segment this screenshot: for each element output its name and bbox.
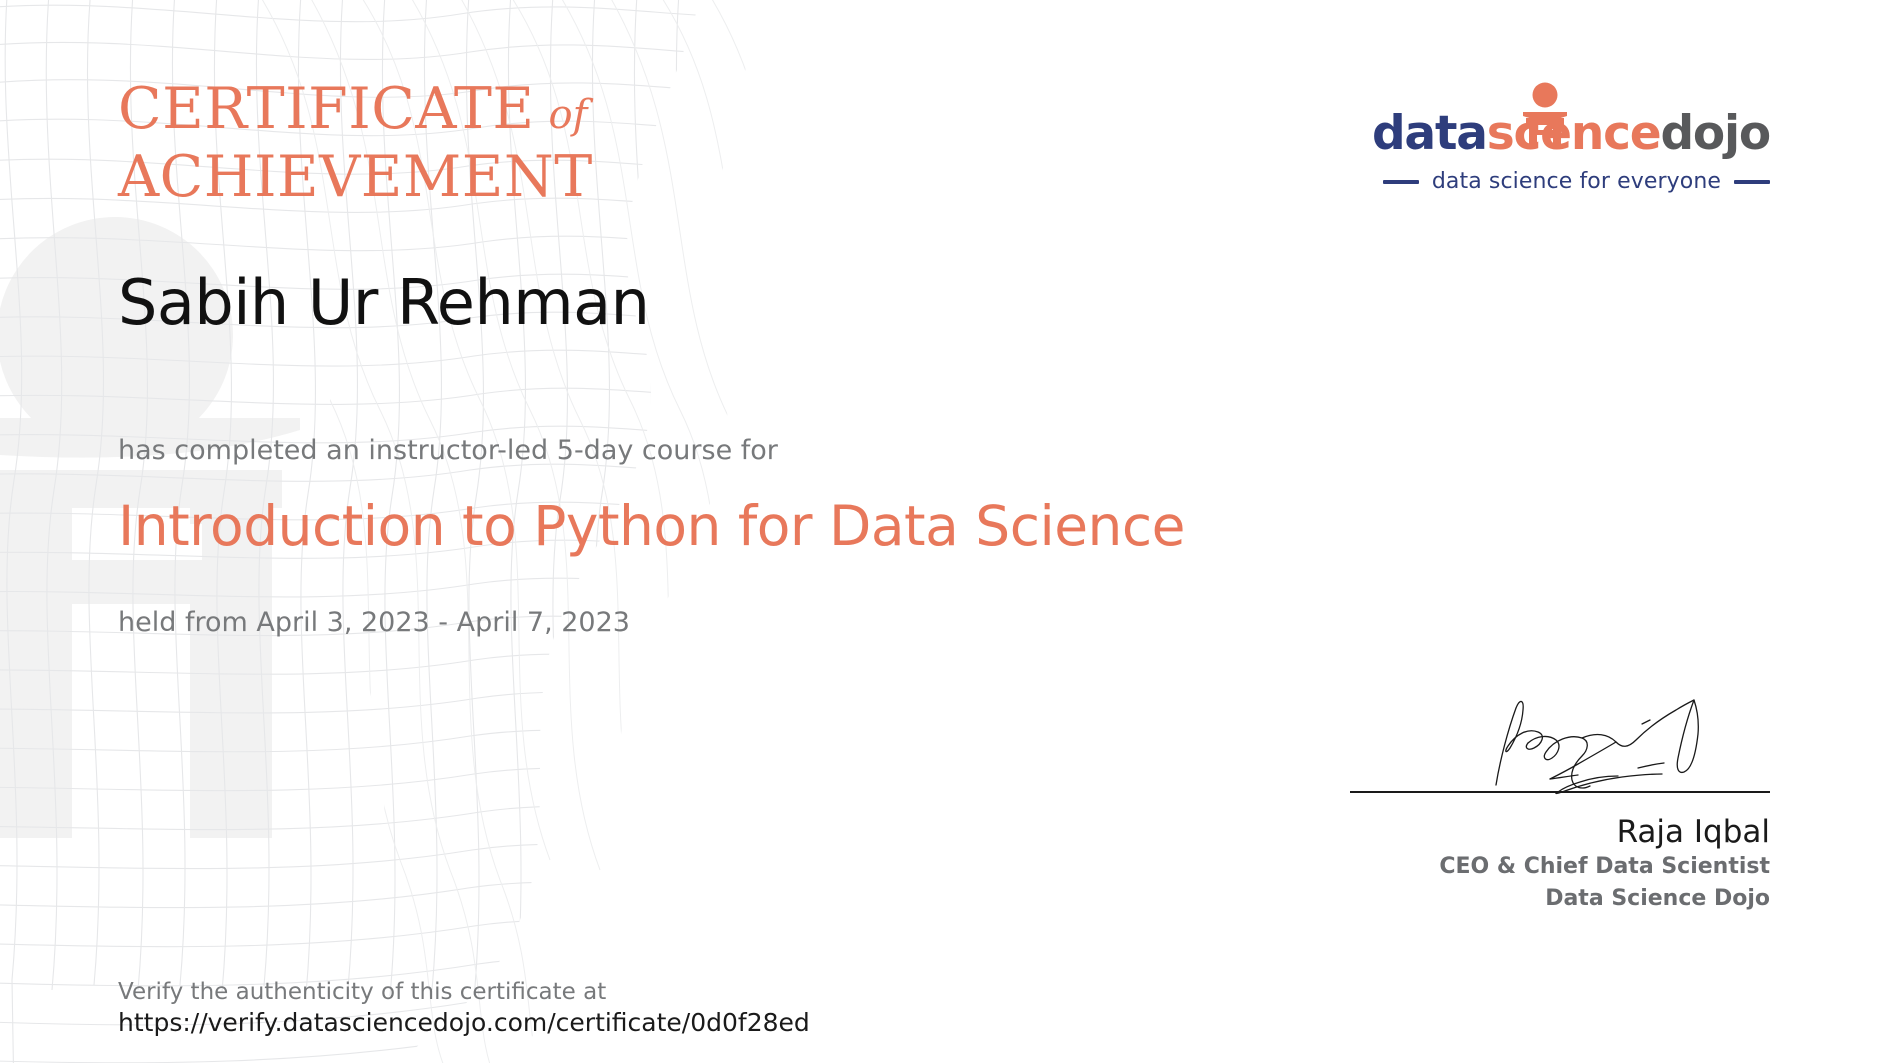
handwritten-signature [1466,690,1766,795]
verification-block: Verify the authenticity of this certific… [118,978,810,1038]
course-title: Introduction to Python for Data Science [118,494,1185,558]
torii-gate-icon [1522,82,1568,144]
headline-line-1: CERTIFICATEof [118,78,593,146]
logo-part-data: data [1372,106,1487,161]
headline-line-2: ACHIEVEMENT [118,146,593,208]
logo-tagline: data science for everyone [1432,169,1721,194]
signatory-organization: Data Science Dojo [1350,883,1770,915]
course-dates: held from April 3, 2023 - April 7, 2023 [118,607,630,638]
logo-tagline-row: data science for everyone [1372,169,1770,194]
recipient-name: Sabih Ur Rehman [118,267,649,339]
logo-wordmark: datascencedojo [1372,108,1770,160]
verification-url[interactable]: https://verify.datasciencedojo.com/certi… [118,1007,810,1038]
signature-block: Raja Iqbal CEO & Chief Data Scientist Da… [1350,690,1770,915]
verification-label: Verify the authenticity of this certific… [118,978,810,1007]
signatory-title: CEO & Chief Data Scientist [1350,851,1770,883]
headline-of: of [535,92,588,138]
certificate-page: CERTIFICATEof ACHIEVEMENT datascencedojo… [0,0,1890,1063]
completion-statement: has completed an instructor-led 5-day co… [118,435,778,466]
tagline-dash-left [1383,180,1419,184]
certificate-headline: CERTIFICATEof ACHIEVEMENT [118,78,593,208]
datasciencedojo-logo: datascencedojo data science for everyone [1372,108,1770,194]
tagline-dash-right [1734,180,1770,184]
signatory-name: Raja Iqbal [1350,813,1770,851]
logo-part-dojo: dojo [1660,106,1770,161]
